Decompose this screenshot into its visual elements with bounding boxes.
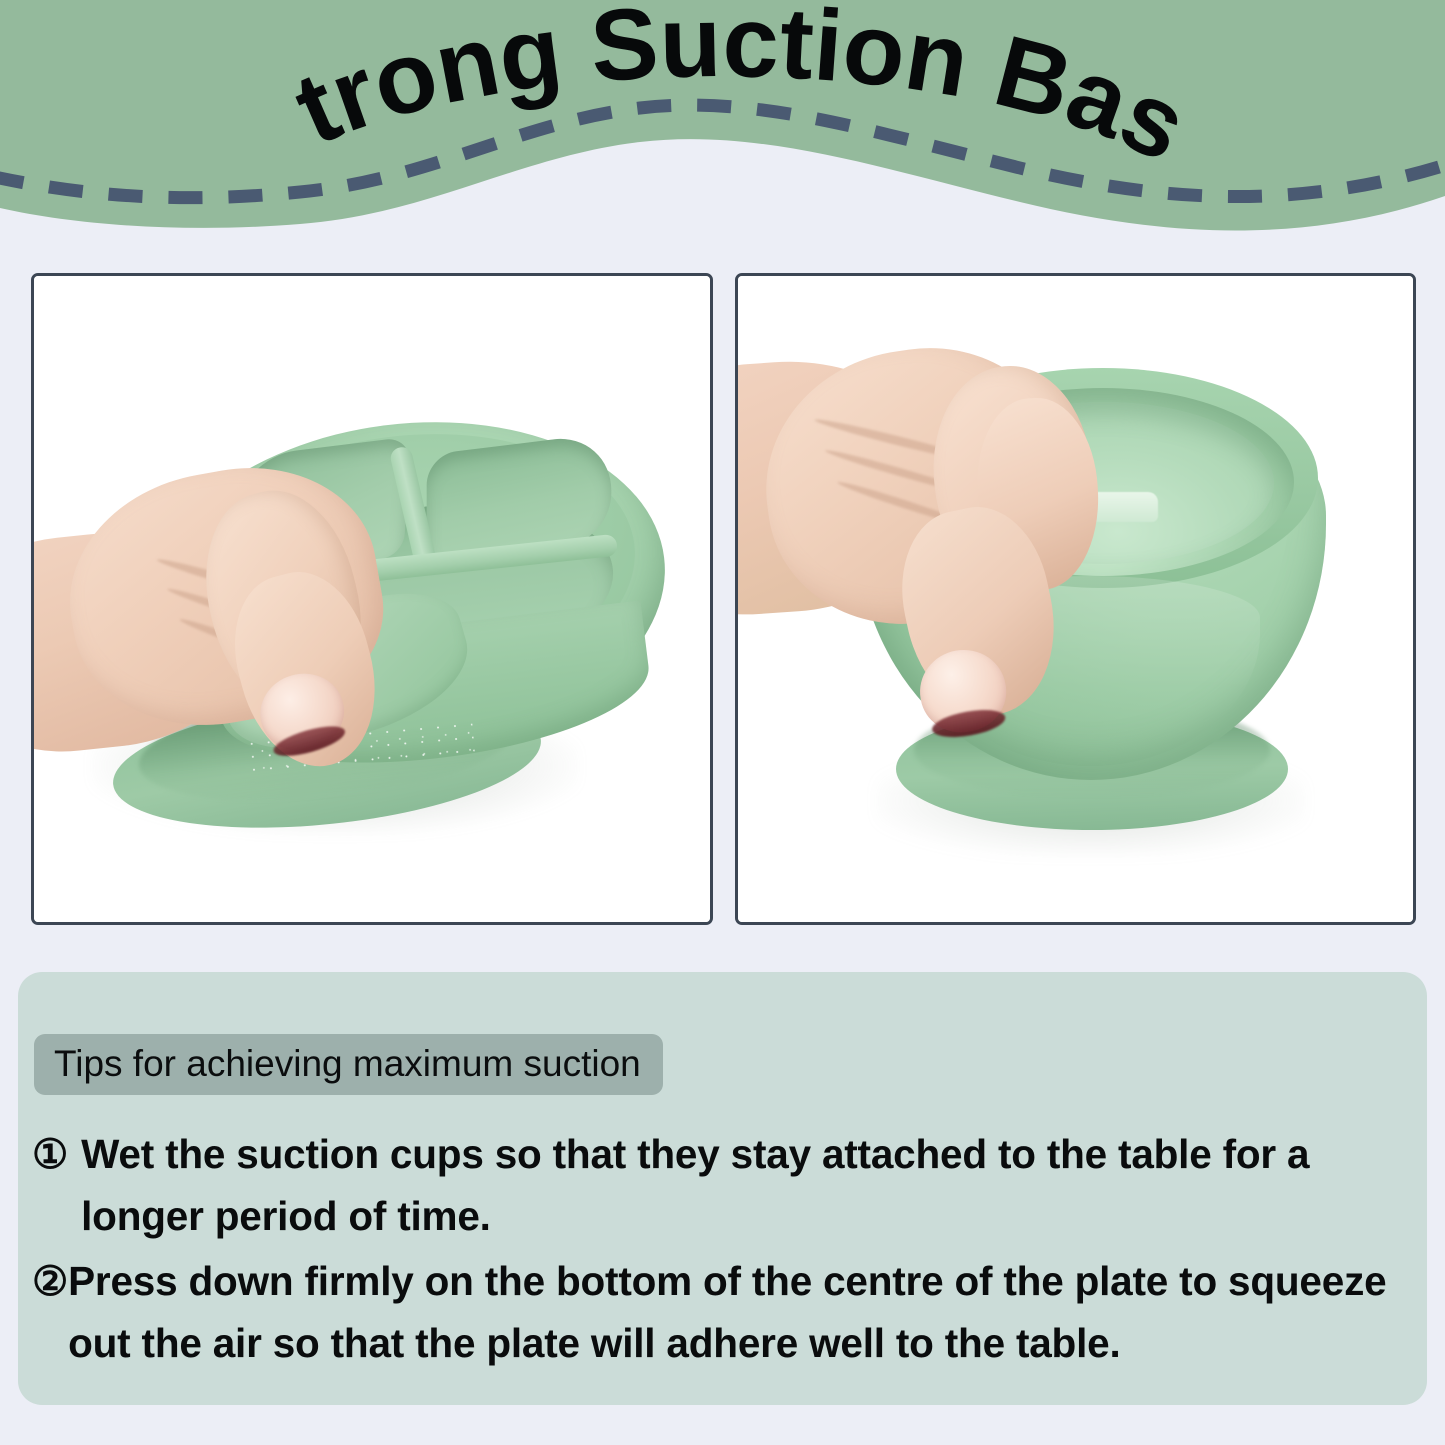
tips-badge: Tips for achieving maximum suction bbox=[34, 1034, 663, 1095]
header-banner bbox=[0, 0, 1445, 248]
infographic-page: Strong Suction Base bbox=[0, 0, 1445, 1445]
tip-text-1: Wet the suction cups so that they stay a… bbox=[81, 1124, 1418, 1247]
tip-text-2: Press down firmly on the bottom of the c… bbox=[68, 1251, 1418, 1374]
tips-list: ① Wet the suction cups so that they stay… bbox=[32, 1124, 1418, 1374]
tip-marker-2: ② bbox=[32, 1251, 68, 1313]
tip-marker-1: ① bbox=[32, 1124, 81, 1186]
divided-plate-photo bbox=[34, 276, 710, 922]
photo-panel-row bbox=[31, 273, 1416, 925]
panel-suction-bowl[interactable] bbox=[735, 273, 1417, 925]
bowl-illustration bbox=[738, 276, 1414, 922]
panel-divided-plate[interactable] bbox=[31, 273, 713, 925]
list-item: ② Press down firmly on the bottom of the… bbox=[32, 1251, 1418, 1374]
tips-panel: Tips for achieving maximum suction ① Wet… bbox=[18, 972, 1427, 1405]
suction-bowl-photo bbox=[738, 276, 1414, 922]
plate-illustration bbox=[34, 276, 710, 922]
header-wave-shape bbox=[0, 0, 1445, 248]
list-item: ① Wet the suction cups so that they stay… bbox=[32, 1124, 1418, 1247]
